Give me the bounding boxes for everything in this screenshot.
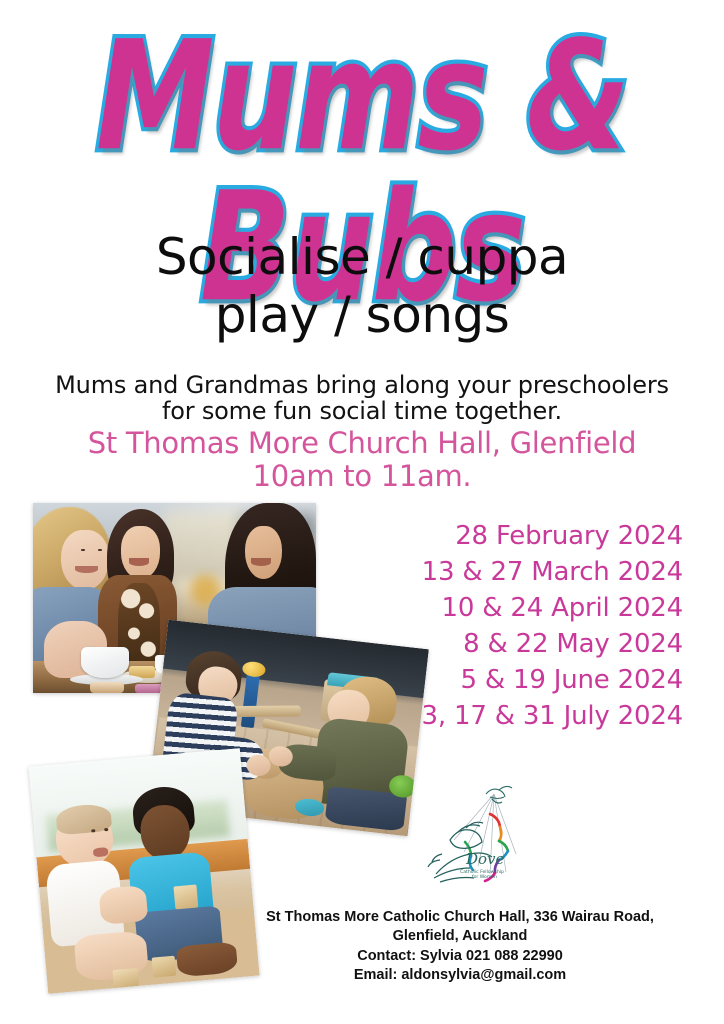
venue-time-line: 10am to 11am. — [0, 461, 724, 493]
dove-catholic-fellowship-logo: Dove Catholic Fellowship for Women — [420, 782, 550, 890]
footer-contact-phone: Contact: Sylvia 021 088 22990 — [225, 947, 695, 966]
logo-wordmark: Dove — [465, 850, 505, 868]
subtitle-line-1: Socialise / cuppa — [0, 228, 724, 286]
footer-contact-email: Email: aldonsylvia@gmail.com — [225, 966, 695, 985]
poster-canvas: Mums & Bubs Socialise / cuppa play / son… — [0, 0, 724, 1024]
date-item: 10 & 24 April 2024 — [353, 590, 683, 626]
footer-contact-block: St Thomas More Catholic Church Hall, 336… — [225, 908, 695, 985]
logo-tagline-line-2: for Women — [472, 874, 497, 880]
footer-address-line-1: St Thomas More Catholic Church Hall, 336… — [225, 908, 695, 927]
photo-babies-blocks — [28, 748, 259, 994]
date-item: 13 & 27 March 2024 — [353, 554, 683, 590]
body-line-1: Mums and Grandmas bring along your presc… — [0, 372, 724, 398]
date-item: 28 February 2024 — [353, 518, 683, 554]
subtitle-line-2: play / songs — [0, 286, 724, 344]
venue-line-1: St Thomas More Church Hall, Glenfield — [0, 428, 724, 460]
footer-address-line-2: Glenfield, Auckland — [225, 927, 695, 946]
body-line-2: for some fun social time together. — [0, 398, 724, 424]
